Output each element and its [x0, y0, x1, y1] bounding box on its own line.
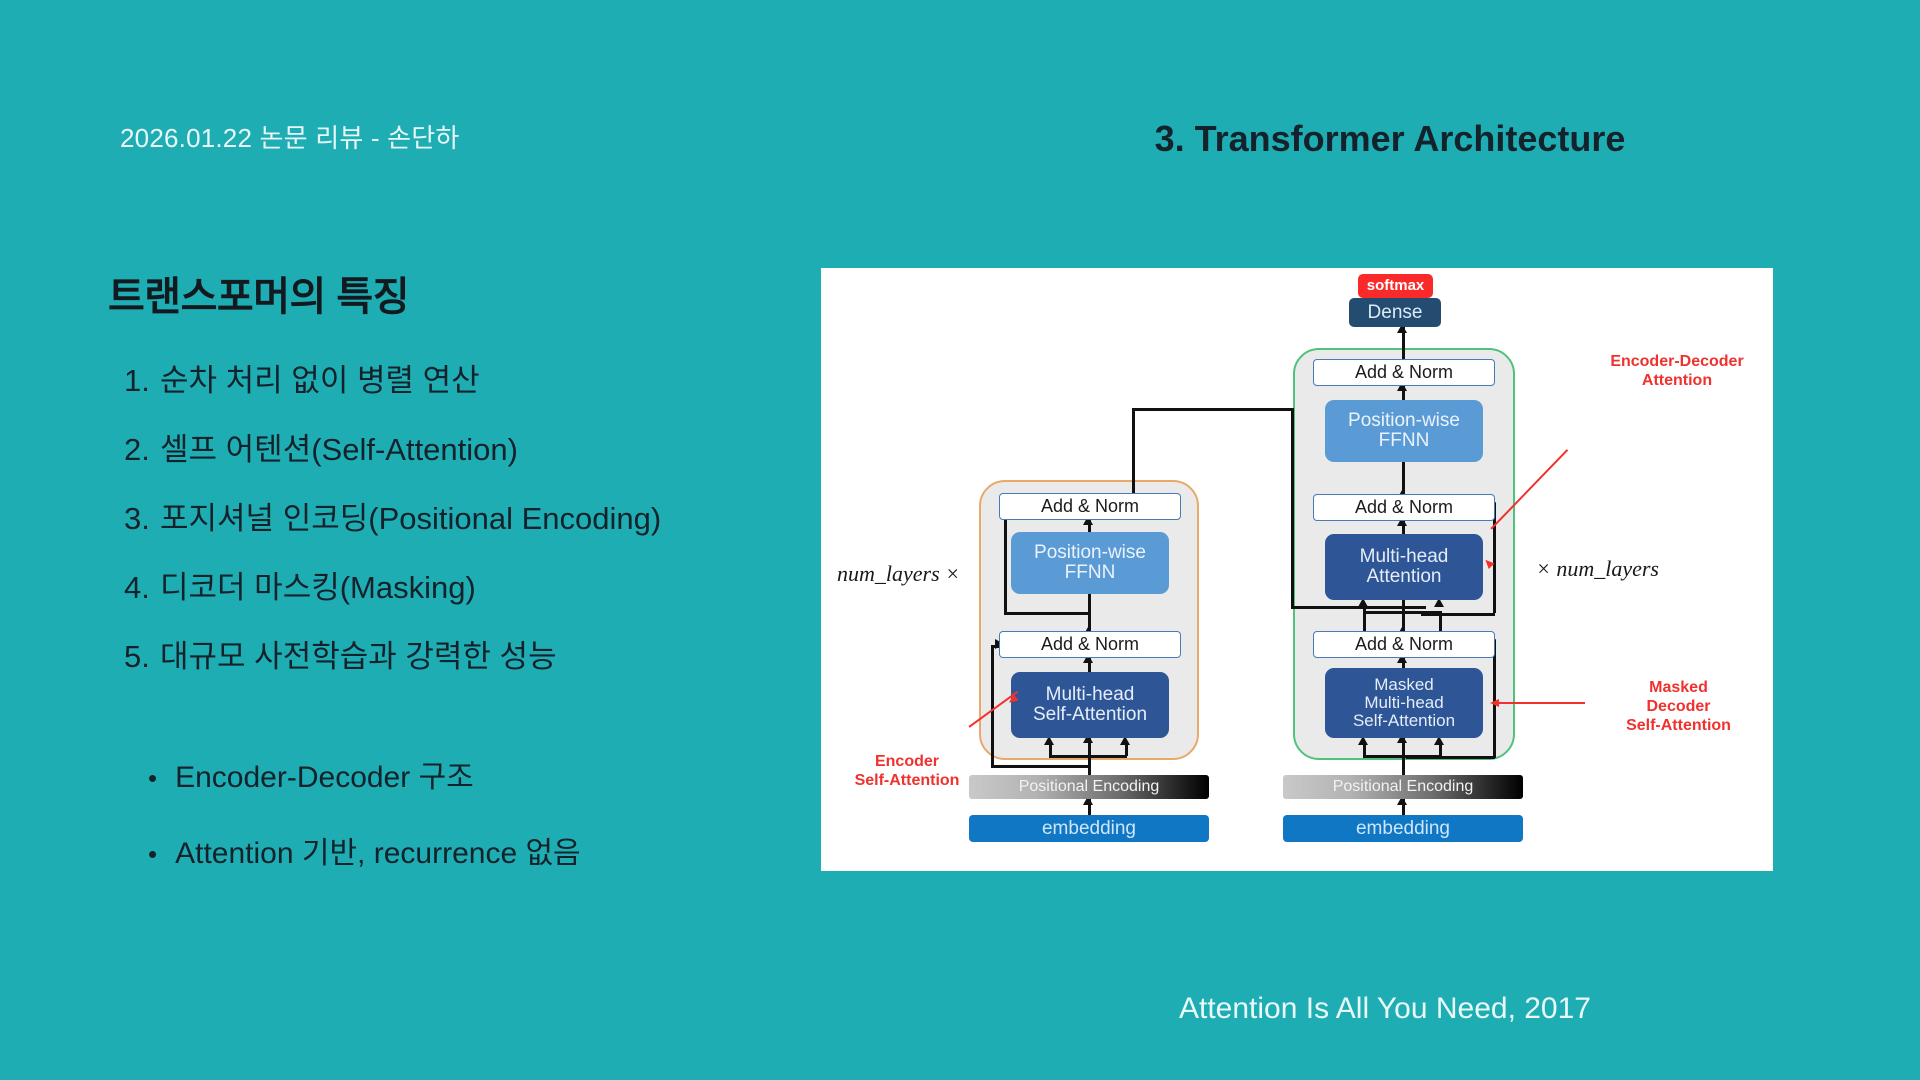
decoder-cross-attention-label-line1: Multi-head [1360, 547, 1449, 567]
decoder-add-norm-top-label: Add & Norm [1355, 363, 1453, 382]
decoder-add-norm-bottom-label: Add & Norm [1355, 635, 1453, 654]
list-item-label: 대규모 사전학습과 강력한 성능 [160, 631, 557, 676]
decoder-encoder-decoder-attention: Multi-head Attention [1325, 534, 1483, 600]
decoder-position-wise-ffnn: Position-wise FFNN [1325, 400, 1483, 462]
list-item-index: 2. [124, 432, 154, 468]
list-item: • Attention 기반, recurrence 없음 [148, 828, 808, 872]
encoder-add-norm-bottom: Add & Norm [999, 631, 1181, 658]
decoder-ffnn-label-line1: Position-wise [1348, 411, 1460, 431]
encoder-add-norm-top-label: Add & Norm [1041, 497, 1139, 516]
encoder-residual-line [1004, 612, 1090, 615]
list-item-index: 4. [124, 570, 154, 606]
annotation-encoder-decoder-attention: Encoder-Decoder Attention [1587, 352, 1767, 390]
decoder-positional-encoding-label: Positional Encoding [1333, 779, 1474, 796]
list-item: 2. 셀프 어텐션(Self-Attention) [124, 424, 784, 469]
decoder-embedding: embedding [1283, 815, 1523, 842]
bullet-label: Attention 기반, recurrence 없음 [175, 828, 581, 872]
annotation-encoder-self-attention: Encoder Self-Attention [827, 752, 987, 790]
softmax-output: softmax [1358, 274, 1433, 298]
decoder-cross-attention-label-line2: Attention [1367, 567, 1442, 587]
bullet-marker-icon: • [148, 841, 157, 867]
list-item-label: 셀프 어텐션(Self-Attention) [160, 424, 518, 469]
dense-label: Dense [1368, 303, 1423, 323]
numbered-list: 1. 순차 처리 없이 병렬 연산 2. 셀프 어텐션(Self-Attenti… [124, 355, 784, 700]
encoder-ffnn-label-line2: FFNN [1065, 563, 1116, 583]
decoder-masked-attention-label-line2: Multi-head [1364, 694, 1443, 712]
decoder-add-norm-mid-label: Add & Norm [1355, 498, 1453, 517]
decoder-add-norm-top: Add & Norm [1313, 359, 1495, 386]
bullet-marker-icon: • [148, 765, 157, 791]
encoder-add-norm-bottom-label: Add & Norm [1041, 635, 1139, 654]
list-item-index: 3. [124, 501, 154, 537]
list-item-label: 순차 처리 없이 병렬 연산 [160, 355, 480, 400]
list-item: 4. 디코더 마스킹(Masking) [124, 562, 784, 607]
dense-output-layer: Dense [1349, 298, 1441, 327]
decoder-residual-line [1406, 756, 1495, 759]
decoder-add-norm-mid: Add & Norm [1313, 494, 1495, 521]
header-date-line: 2026.01.22 논문 리뷰 - 손단하 [120, 118, 460, 155]
encoder-residual-line [991, 765, 1089, 768]
softmax-label: softmax [1367, 278, 1425, 294]
encoder-multi-head-self-attention: Multi-head Self-Attention [1011, 672, 1169, 738]
transformer-architecture-diagram: Add & Norm Position-wise FFNN Add & Norm… [821, 268, 1773, 871]
decoder-num-layers-label: × num_layers [1536, 556, 1659, 582]
slide-root: 2026.01.22 논문 리뷰 - 손단하 3. Transformer Ar… [0, 0, 1920, 1080]
list-item-index: 1. [124, 363, 154, 399]
encoder-positional-encoding-label: Positional Encoding [1019, 779, 1160, 796]
encoder-residual-line [1004, 507, 1007, 614]
annotation-masked-decoder-leader [1499, 702, 1585, 704]
bullet-list: • Encoder-Decoder 구조 • Attention 기반, rec… [148, 752, 808, 904]
list-item: 3. 포지셔널 인코딩(Positional Encoding) [124, 493, 784, 538]
annotation-masked-decoder-self-attention: Masked Decoder Self-Attention [1591, 678, 1766, 736]
encoder-qkv-bus [1049, 755, 1127, 758]
encoder-embedding-label: embedding [1042, 819, 1136, 839]
annotation-masked-decoder-arrowhead [1490, 699, 1499, 707]
encoder-ffnn-label-line1: Position-wise [1034, 543, 1146, 563]
encoder-attention-label-line2: Self-Attention [1033, 705, 1147, 725]
encoder-to-decoder-line [1291, 408, 1294, 608]
encoder-add-norm-top: Add & Norm [999, 493, 1181, 520]
encoder-positional-encoding: Positional Encoding [969, 775, 1209, 799]
bullet-label: Encoder-Decoder 구조 [175, 752, 474, 796]
encoder-residual-line [991, 645, 994, 767]
decoder-add-norm-bottom: Add & Norm [1313, 631, 1495, 658]
footer-citation: Attention Is All You Need, 2017 [1179, 992, 1591, 1026]
list-item: 1. 순차 처리 없이 병렬 연산 [124, 355, 784, 400]
encoder-num-layers-label: num_layers × [837, 561, 960, 587]
encoder-embedding: embedding [969, 815, 1209, 842]
encoder-attention-label-line1: Multi-head [1046, 685, 1135, 705]
decoder-masked-attention-label-line3: Self-Attention [1353, 712, 1455, 730]
list-item-index: 5. [124, 639, 154, 675]
list-item-label: 디코더 마스킹(Masking) [160, 562, 476, 607]
list-item: 5. 대규모 사전학습과 강력한 성능 [124, 631, 784, 676]
list-item: • Encoder-Decoder 구조 [148, 752, 808, 796]
encoder-to-decoder-line [1132, 408, 1293, 411]
decoder-positional-encoding: Positional Encoding [1283, 775, 1523, 799]
page-title: 3. Transformer Architecture [1155, 118, 1626, 160]
list-item-label: 포지셔널 인코딩(Positional Encoding) [160, 493, 661, 538]
decoder-embedding-label: embedding [1356, 819, 1450, 839]
decoder-masked-multi-head-self-attention: Masked Multi-head Self-Attention [1325, 668, 1483, 738]
section-title: 트랜스포머의 특징 [108, 264, 409, 322]
decoder-residual-line [1421, 613, 1495, 616]
encoder-position-wise-ffnn: Position-wise FFNN [1011, 532, 1169, 594]
decoder-masked-attention-label-line1: Masked [1374, 676, 1434, 694]
encoder-to-decoder-line [1132, 408, 1135, 494]
decoder-ffnn-label-line2: FFNN [1379, 431, 1430, 451]
